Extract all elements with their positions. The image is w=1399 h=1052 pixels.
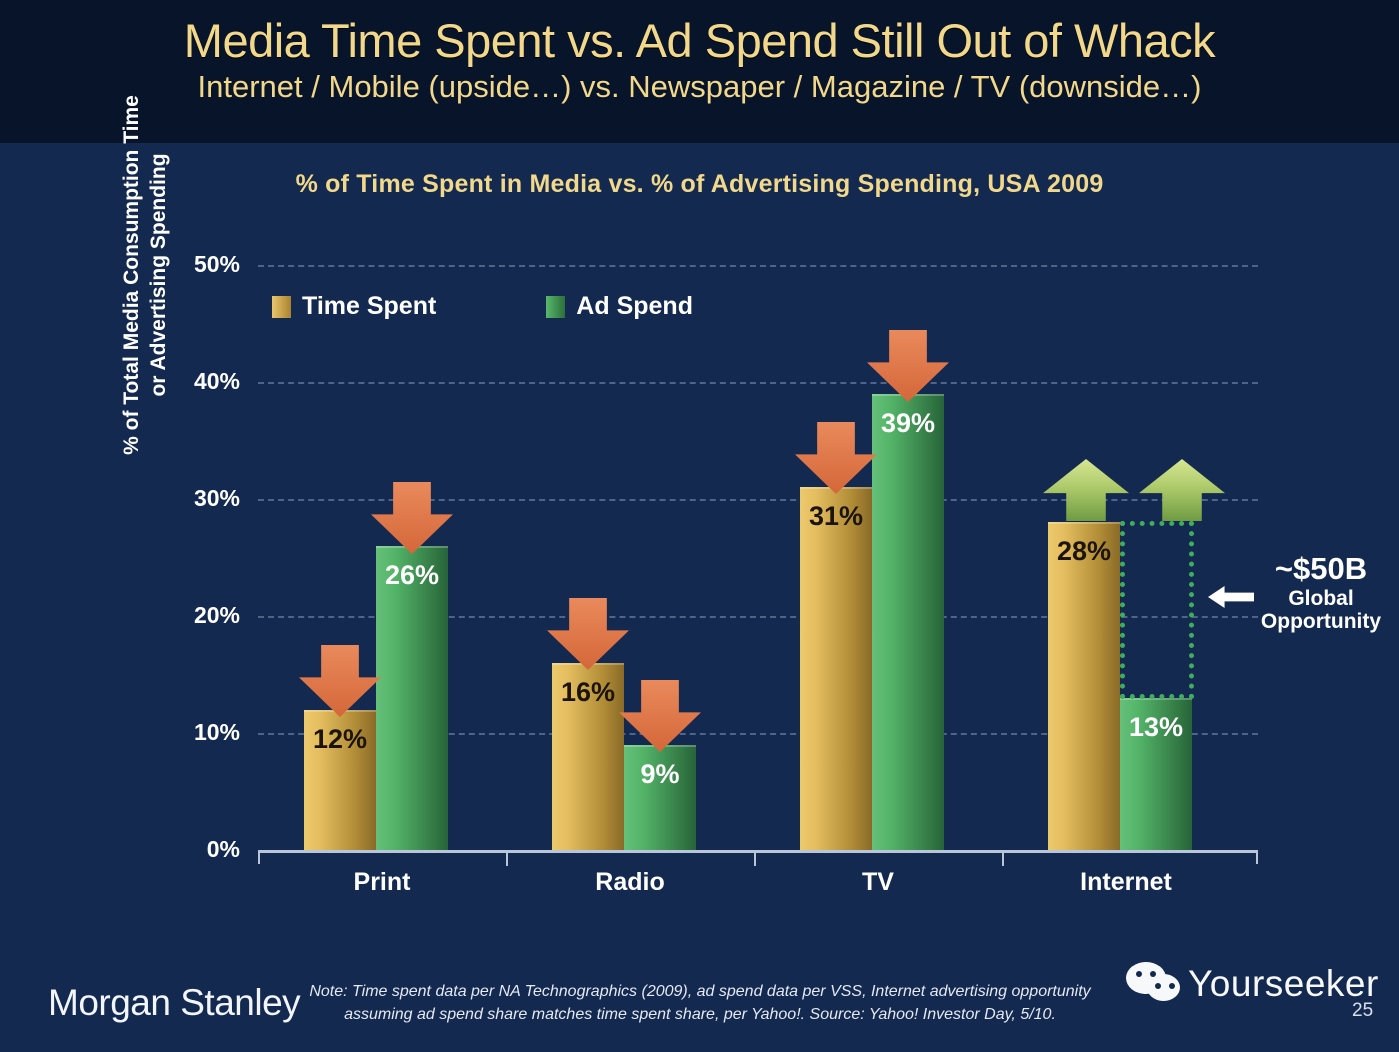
wechat-icon bbox=[1126, 962, 1182, 1006]
y-tick-30: 30% bbox=[130, 485, 240, 512]
page-title: Media Time Spent vs. Ad Spend Still Out … bbox=[0, 0, 1399, 66]
legend-item-time-spent: Time Spent bbox=[272, 292, 436, 321]
legend-swatch-ad-spend bbox=[546, 296, 565, 318]
x-label-radio: Radio bbox=[515, 868, 745, 897]
bar-value-radio-time-spent: 16% bbox=[552, 677, 624, 708]
chart-legend: Time Spent Ad Spend bbox=[272, 292, 693, 321]
down-arrow-icon-radio-time-spent bbox=[547, 598, 629, 670]
bar-value-print-ad-spend: 26% bbox=[376, 560, 448, 591]
bar-radio-ad-spend[interactable]: 9% bbox=[624, 745, 696, 850]
bar-value-internet-time-spent: 28% bbox=[1048, 536, 1120, 567]
bar-value-tv-time-spent: 31% bbox=[800, 501, 872, 532]
bar-internet-time-spent[interactable]: 28% bbox=[1048, 522, 1120, 850]
x-label-internet: Internet bbox=[1011, 868, 1241, 897]
x-axis-cap-left bbox=[258, 850, 260, 864]
bar-tv-time-spent[interactable]: 31% bbox=[800, 487, 872, 850]
bar-print-time-spent[interactable]: 12% bbox=[304, 710, 376, 850]
slide-header: Media Time Spent vs. Ad Spend Still Out … bbox=[0, 0, 1399, 143]
down-arrow-icon-tv-time-spent bbox=[795, 422, 877, 494]
bar-value-radio-ad-spend: 9% bbox=[624, 759, 696, 790]
opportunity-line2: Opportunity bbox=[1246, 610, 1396, 634]
x-axis-line bbox=[258, 850, 1258, 853]
slide: Media Time Spent vs. Ad Spend Still Out … bbox=[0, 0, 1399, 1052]
x-label-print: Print bbox=[267, 868, 497, 897]
y-tick-40: 40% bbox=[130, 368, 240, 395]
down-arrow-icon-print-ad-spend bbox=[371, 482, 453, 554]
y-tick-50: 50% bbox=[130, 251, 240, 278]
gridline-50 bbox=[258, 265, 1258, 267]
opportunity-value: ~$50B bbox=[1246, 552, 1396, 587]
chart-title: % of Time Spent in Media vs. % of Advert… bbox=[0, 170, 1399, 199]
x-tick-1 bbox=[506, 850, 508, 866]
footer-note: Note: Time spent data per NA Technograph… bbox=[300, 980, 1100, 1026]
opportunity-line1: Global bbox=[1246, 587, 1396, 611]
gridline-40 bbox=[258, 382, 1258, 384]
y-tick-0: 0% bbox=[130, 836, 240, 863]
legend-item-ad-spend: Ad Spend bbox=[546, 292, 693, 321]
up-arrow-icon-internet-ad-spend bbox=[1139, 459, 1225, 521]
x-tick-2 bbox=[754, 850, 756, 866]
bar-value-internet-ad-spend: 13% bbox=[1120, 712, 1192, 743]
morgan-stanley-logo: Morgan Stanley bbox=[48, 982, 300, 1024]
bar-print-ad-spend[interactable]: 26% bbox=[376, 546, 448, 850]
y-tick-20: 20% bbox=[130, 602, 240, 629]
opportunity-annotation: ~$50B Global Opportunity bbox=[1246, 552, 1396, 634]
bar-internet-ad-spend[interactable]: 13% bbox=[1120, 698, 1192, 850]
watermark-text: Yourseeker bbox=[1188, 963, 1379, 1005]
bar-tv-ad-spend[interactable]: 39% bbox=[872, 394, 944, 850]
x-axis-cap-right bbox=[1256, 850, 1258, 864]
x-label-tv: TV bbox=[763, 868, 993, 897]
watermark: Yourseeker bbox=[1126, 962, 1379, 1006]
legend-swatch-time-spent bbox=[272, 296, 291, 318]
opportunity-gap-box bbox=[1120, 521, 1194, 699]
up-arrow-icon-internet-time-spent bbox=[1043, 459, 1129, 521]
y-tick-10: 10% bbox=[130, 719, 240, 746]
bar-radio-time-spent[interactable]: 16% bbox=[552, 663, 624, 850]
legend-label-ad-spend: Ad Spend bbox=[576, 292, 693, 321]
page-subtitle: Internet / Mobile (upside…) vs. Newspape… bbox=[0, 66, 1399, 104]
bar-value-print-time-spent: 12% bbox=[304, 724, 376, 755]
down-arrow-icon-tv-ad-spend bbox=[867, 330, 949, 402]
legend-label-time-spent: Time Spent bbox=[302, 292, 436, 321]
bar-value-tv-ad-spend: 39% bbox=[872, 408, 944, 439]
x-tick-3 bbox=[1002, 850, 1004, 866]
down-arrow-icon-radio-ad-spend bbox=[619, 680, 701, 752]
down-arrow-icon-print-time-spent bbox=[299, 645, 381, 717]
